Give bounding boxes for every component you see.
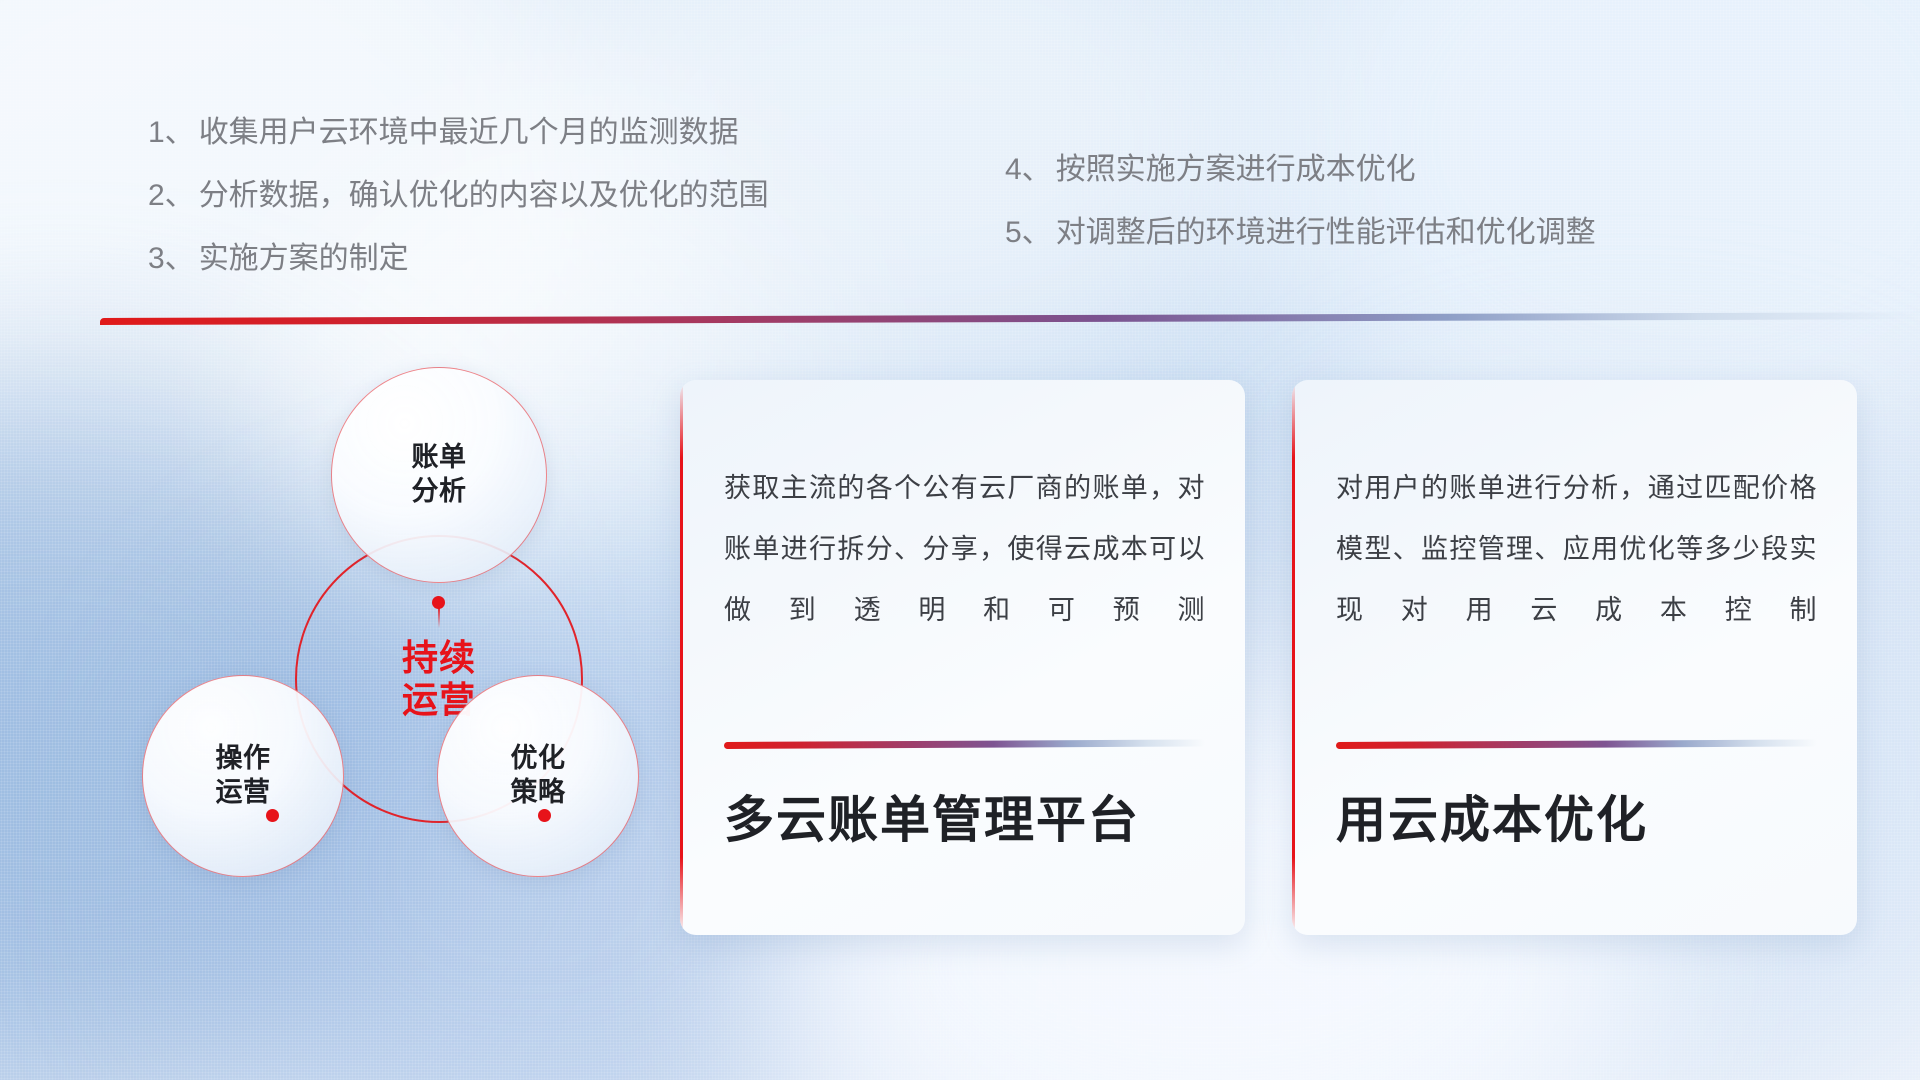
list-item-number: 2、 xyxy=(148,181,195,211)
feature-card-cloud-cost-optimization[interactable]: 对用户的账单进行分析，通过匹配价格模型、监控管理、应用优化等多少段实现对用云成本… xyxy=(1292,380,1857,935)
diagram-bubble-billing-analysis[interactable]: 账单分析 xyxy=(331,367,547,583)
bubble-label-line2: 运营 xyxy=(216,776,271,810)
diagram-node-dot xyxy=(538,809,551,822)
diagram-node-dot xyxy=(432,596,445,609)
bubble-label: 操作运营 xyxy=(216,742,271,810)
list-item-number: 1、 xyxy=(148,118,195,148)
steps-section: 1、 收集用户云环境中最近几个月的监测数据 2、 分析数据，确认优化的内容以及优… xyxy=(0,0,1920,300)
bubble-label: 账单分析 xyxy=(412,441,467,509)
list-item-label: 对调整后的环境进行性能评估和优化调整 xyxy=(1056,218,1596,248)
bubble-label: 优化策略 xyxy=(511,742,566,810)
card-title: 多云账单管理平台 xyxy=(724,790,1140,850)
bubble-label-line1: 账单 xyxy=(412,441,467,475)
card-body-text: 对用户的账单进行分析，通过匹配价格模型、监控管理、应用优化等多少段实现对用云成本… xyxy=(1336,458,1817,641)
steps-right-column: 4、 按照实施方案进行成本优化 5、 对调整后的环境进行性能评估和优化调整 xyxy=(1005,155,1596,281)
list-item-label: 实施方案的制定 xyxy=(199,244,409,274)
card-accent-rule xyxy=(1336,739,1817,749)
steps-left-column: 1、 收集用户云环境中最近几个月的监测数据 2、 分析数据，确认优化的内容以及优… xyxy=(148,118,769,307)
card-accent-rule xyxy=(724,739,1205,749)
list-item: 1、 收集用户云环境中最近几个月的监测数据 xyxy=(148,118,769,148)
diagram-connector-tick xyxy=(438,606,440,628)
list-item-label: 分析数据，确认优化的内容以及优化的范围 xyxy=(199,181,769,211)
list-item: 2、 分析数据，确认优化的内容以及优化的范围 xyxy=(148,181,769,211)
list-item: 5、 对调整后的环境进行性能评估和优化调整 xyxy=(1005,218,1596,248)
venn-circle-diagram: 持续 运营 账单分析 操作运营 优化策略 xyxy=(100,350,630,950)
list-item: 4、 按照实施方案进行成本优化 xyxy=(1005,155,1596,185)
center-ring-label-line1: 持续 xyxy=(402,637,476,679)
bubble-label-line1: 优化 xyxy=(511,742,566,776)
bubble-label-line2: 分析 xyxy=(412,475,467,509)
list-item-label: 按照实施方案进行成本优化 xyxy=(1056,155,1416,185)
card-title: 用云成本优化 xyxy=(1336,790,1648,850)
list-item-label: 收集用户云环境中最近几个月的监测数据 xyxy=(199,118,739,148)
bubble-label-line2: 策略 xyxy=(511,776,566,810)
list-item-number: 3、 xyxy=(148,244,195,274)
feature-card-multicloud-billing[interactable]: 获取主流的各个公有云厂商的账单，对账单进行拆分、分享，使得云成本可以做到透明和可… xyxy=(680,380,1245,935)
list-item-number: 4、 xyxy=(1005,155,1052,185)
list-item: 3、 实施方案的制定 xyxy=(148,244,769,274)
card-body-text: 获取主流的各个公有云厂商的账单，对账单进行拆分、分享，使得云成本可以做到透明和可… xyxy=(724,458,1205,641)
bubble-label-line1: 操作 xyxy=(216,742,271,776)
list-item-number: 5、 xyxy=(1005,218,1052,248)
diagram-node-dot xyxy=(266,809,279,822)
diagram-bubble-optimization-strategy[interactable]: 优化策略 xyxy=(437,675,639,877)
diagram-bubble-operations[interactable]: 操作运营 xyxy=(142,675,344,877)
